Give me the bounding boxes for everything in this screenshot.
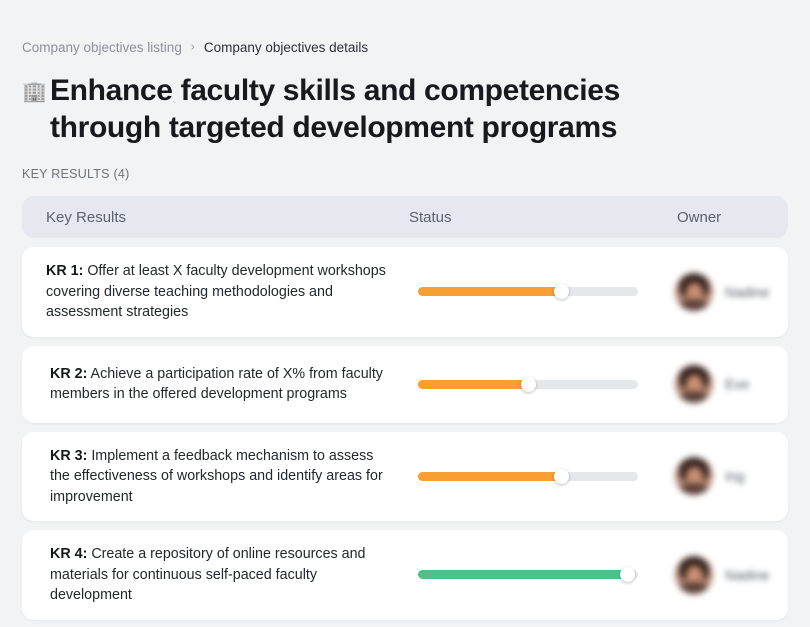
owner-cell[interactable]: Ing xyxy=(667,457,788,495)
table-row[interactable]: KR 2: Achieve a participation rate of X%… xyxy=(22,346,788,423)
table-header-row: Key Results Status Owner xyxy=(22,196,788,238)
page-title: Enhance faculty skills and competencies … xyxy=(50,72,730,146)
avatar xyxy=(675,365,713,403)
breadcrumb-current: Company objectives details xyxy=(204,39,368,56)
owner-name: Nadine xyxy=(725,567,769,583)
progress-knob[interactable] xyxy=(620,567,635,582)
owner-cell[interactable]: Nadine xyxy=(667,556,788,594)
progress-knob[interactable] xyxy=(521,377,536,392)
table-row[interactable]: KR 4: Create a repository of online reso… xyxy=(22,530,788,620)
owner-cell[interactable]: Eve xyxy=(667,365,788,403)
chevron-right-icon: › xyxy=(191,39,195,56)
progress-fill xyxy=(418,472,561,481)
progress-fill xyxy=(418,570,627,579)
key-result-text: KR 1: Offer at least X faculty developme… xyxy=(22,261,409,323)
table-row[interactable]: KR 1: Offer at least X faculty developme… xyxy=(22,247,788,337)
status-cell xyxy=(409,472,667,481)
key-result-text: KR 2: Achieve a participation rate of X%… xyxy=(22,364,409,405)
progress-fill xyxy=(418,287,561,296)
key-results-section-label: KEY RESULTS (4) xyxy=(22,166,788,182)
key-result-description: Implement a feedback mechanism to assess… xyxy=(50,448,383,505)
key-result-label: KR 3: xyxy=(50,448,87,464)
key-result-text: KR 4: Create a repository of online reso… xyxy=(22,544,409,606)
progress-slider[interactable] xyxy=(418,472,638,481)
status-cell xyxy=(409,570,667,579)
progress-slider[interactable] xyxy=(418,570,638,579)
key-result-text: KR 3: Implement a feedback mechanism to … xyxy=(22,446,409,508)
key-result-description: Create a repository of online resources … xyxy=(50,546,366,603)
column-header-owner: Owner xyxy=(667,209,788,226)
breadcrumb-parent-link[interactable]: Company objectives listing xyxy=(22,39,182,56)
key-result-label: KR 2: xyxy=(50,366,87,382)
progress-fill xyxy=(418,380,528,389)
owner-name: Ing xyxy=(725,468,744,484)
progress-knob[interactable] xyxy=(554,469,569,484)
key-result-description: Achieve a participation rate of X% from … xyxy=(50,366,383,403)
status-cell xyxy=(409,287,667,296)
key-result-label: KR 4: xyxy=(50,546,87,562)
progress-slider[interactable] xyxy=(418,380,638,389)
avatar xyxy=(675,556,713,594)
owner-name: Eve xyxy=(725,376,749,392)
progress-knob[interactable] xyxy=(554,284,569,299)
column-header-status: Status xyxy=(409,209,667,226)
key-result-label: KR 1: xyxy=(46,263,83,279)
key-result-description: Offer at least X faculty development wor… xyxy=(46,263,386,320)
status-cell xyxy=(409,380,667,389)
owner-name: Nadine xyxy=(725,284,769,300)
page-title-row: 🏢 Enhance faculty skills and competencie… xyxy=(22,72,788,146)
key-results-table: Key Results Status Owner KR 1: Offer at … xyxy=(22,196,788,620)
table-row[interactable]: KR 3: Implement a feedback mechanism to … xyxy=(22,432,788,522)
progress-slider[interactable] xyxy=(418,287,638,296)
page-root: Company objectives listing › Company obj… xyxy=(0,0,810,627)
breadcrumb: Company objectives listing › Company obj… xyxy=(22,0,788,56)
owner-cell[interactable]: Nadine xyxy=(667,273,788,311)
table-body: KR 1: Offer at least X faculty developme… xyxy=(22,247,788,620)
avatar xyxy=(675,273,713,311)
avatar xyxy=(675,457,713,495)
office-building-icon: 🏢 xyxy=(22,72,50,112)
column-header-key-results: Key Results xyxy=(22,209,409,226)
